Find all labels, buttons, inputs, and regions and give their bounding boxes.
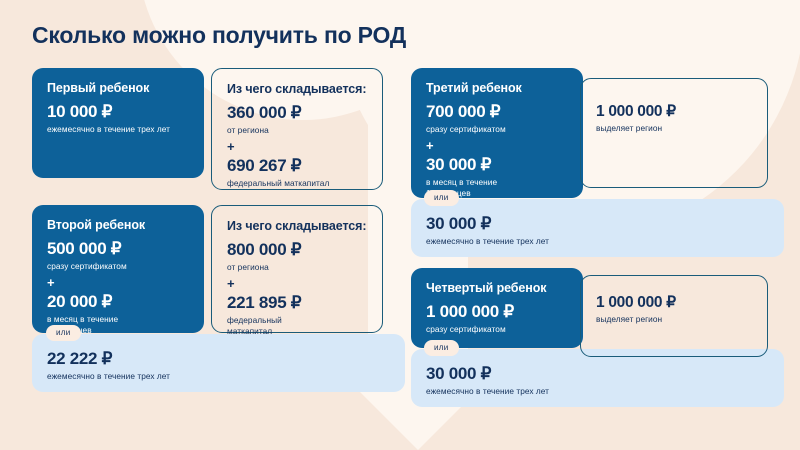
card-fourth-child-alt[interactable]: 30 000 ₽ ежемесячно в течение трех лет xyxy=(411,349,784,407)
card-second-child-breakdown-sub-1: от региона xyxy=(227,262,367,273)
card-second-child-breakdown-sub-2: федеральный маткапитал xyxy=(227,315,367,337)
card-second-child-breakdown-title: Из чего складывается: xyxy=(227,219,367,233)
card-fourth-child[interactable]: Четвертый ребенок 1 000 000 ₽ сразу серт… xyxy=(411,268,583,348)
card-first-child-title: Первый ребенок xyxy=(47,81,189,95)
card-third-child-alt[interactable]: 30 000 ₽ ежемесячно в течение трех лет xyxy=(411,199,784,257)
card-third-child-alt-amount: 30 000 ₽ xyxy=(426,214,769,234)
card-fourth-child-region-sub: выделяет регион xyxy=(596,314,752,325)
card-third-child-title: Третий ребенок xyxy=(426,81,568,95)
card-first-child[interactable]: Первый ребенок 10 000 ₽ ежемесячно в теч… xyxy=(32,68,204,178)
card-third-child-region[interactable]: 1 000 000 ₽ выделяет регион xyxy=(580,78,768,188)
card-first-child-breakdown-plus: + xyxy=(227,140,367,153)
card-third-child-amount-1: 700 000 ₽ xyxy=(426,102,568,122)
card-second-child-amount-2: 20 000 ₽ xyxy=(47,292,189,312)
card-fourth-child-region[interactable]: 1 000 000 ₽ выделяет регион xyxy=(580,275,768,357)
card-first-child-breakdown-title: Из чего складывается: xyxy=(227,82,367,96)
card-second-child-plus: + xyxy=(47,276,189,289)
or-badge-third-child: или xyxy=(424,190,459,206)
page-title: Сколько можно получить по РОД xyxy=(32,22,406,49)
card-first-child-breakdown[interactable]: Из чего складывается: 360 000 ₽ от регио… xyxy=(211,68,383,190)
card-fourth-child-region-amount: 1 000 000 ₽ xyxy=(596,294,752,312)
infographic-page: Сколько можно получить по РОД Первый реб… xyxy=(0,0,800,450)
card-first-child-sub: ежемесячно в течение трех лет xyxy=(47,124,189,135)
card-second-child-title: Второй ребенок xyxy=(47,218,189,232)
card-third-child-region-sub: выделяет регион xyxy=(596,123,752,134)
card-third-child-plus: + xyxy=(426,139,568,152)
card-second-child-alt-sub: ежемесячно в течение трех лет xyxy=(47,371,390,382)
card-third-child-alt-sub: ежемесячно в течение трех лет xyxy=(426,236,769,247)
or-badge-fourth-child: или xyxy=(424,340,459,356)
card-second-child-amount-1: 500 000 ₽ xyxy=(47,239,189,259)
card-third-child[interactable]: Третий ребенок 700 000 ₽ сразу сертифика… xyxy=(411,68,583,198)
card-second-child-breakdown-amount-2: 221 895 ₽ xyxy=(227,293,367,313)
card-fourth-child-amount: 1 000 000 ₽ xyxy=(426,302,568,322)
card-first-child-breakdown-amount-1: 360 000 ₽ xyxy=(227,103,367,123)
card-third-child-amount-2: 30 000 ₽ xyxy=(426,155,568,175)
card-first-child-breakdown-sub-2: федеральный маткапитал xyxy=(227,178,367,189)
card-fourth-child-alt-amount: 30 000 ₽ xyxy=(426,364,769,384)
card-second-child-breakdown[interactable]: Из чего складывается: 800 000 ₽ от регио… xyxy=(211,205,383,333)
card-fourth-child-sub: сразу сертификатом xyxy=(426,324,568,335)
or-badge-second-child: или xyxy=(46,325,81,341)
card-first-child-breakdown-amount-2: 690 267 ₽ xyxy=(227,156,367,176)
card-third-child-sub-1: сразу сертификатом xyxy=(426,124,568,135)
card-second-child-breakdown-amount-1: 800 000 ₽ xyxy=(227,240,367,260)
card-third-child-region-amount: 1 000 000 ₽ xyxy=(596,103,752,121)
card-fourth-child-title: Четвертый ребенок xyxy=(426,281,568,295)
card-second-child-sub-1: сразу сертификатом xyxy=(47,261,189,272)
card-fourth-child-alt-sub: ежемесячно в течение трех лет xyxy=(426,386,769,397)
card-second-child-alt-amount: 22 222 ₽ xyxy=(47,349,390,369)
card-second-child-breakdown-plus: + xyxy=(227,277,367,290)
card-second-child[interactable]: Второй ребенок 500 000 ₽ сразу сертифика… xyxy=(32,205,204,333)
card-first-child-breakdown-sub-1: от региона xyxy=(227,125,367,136)
card-first-child-amount: 10 000 ₽ xyxy=(47,102,189,122)
